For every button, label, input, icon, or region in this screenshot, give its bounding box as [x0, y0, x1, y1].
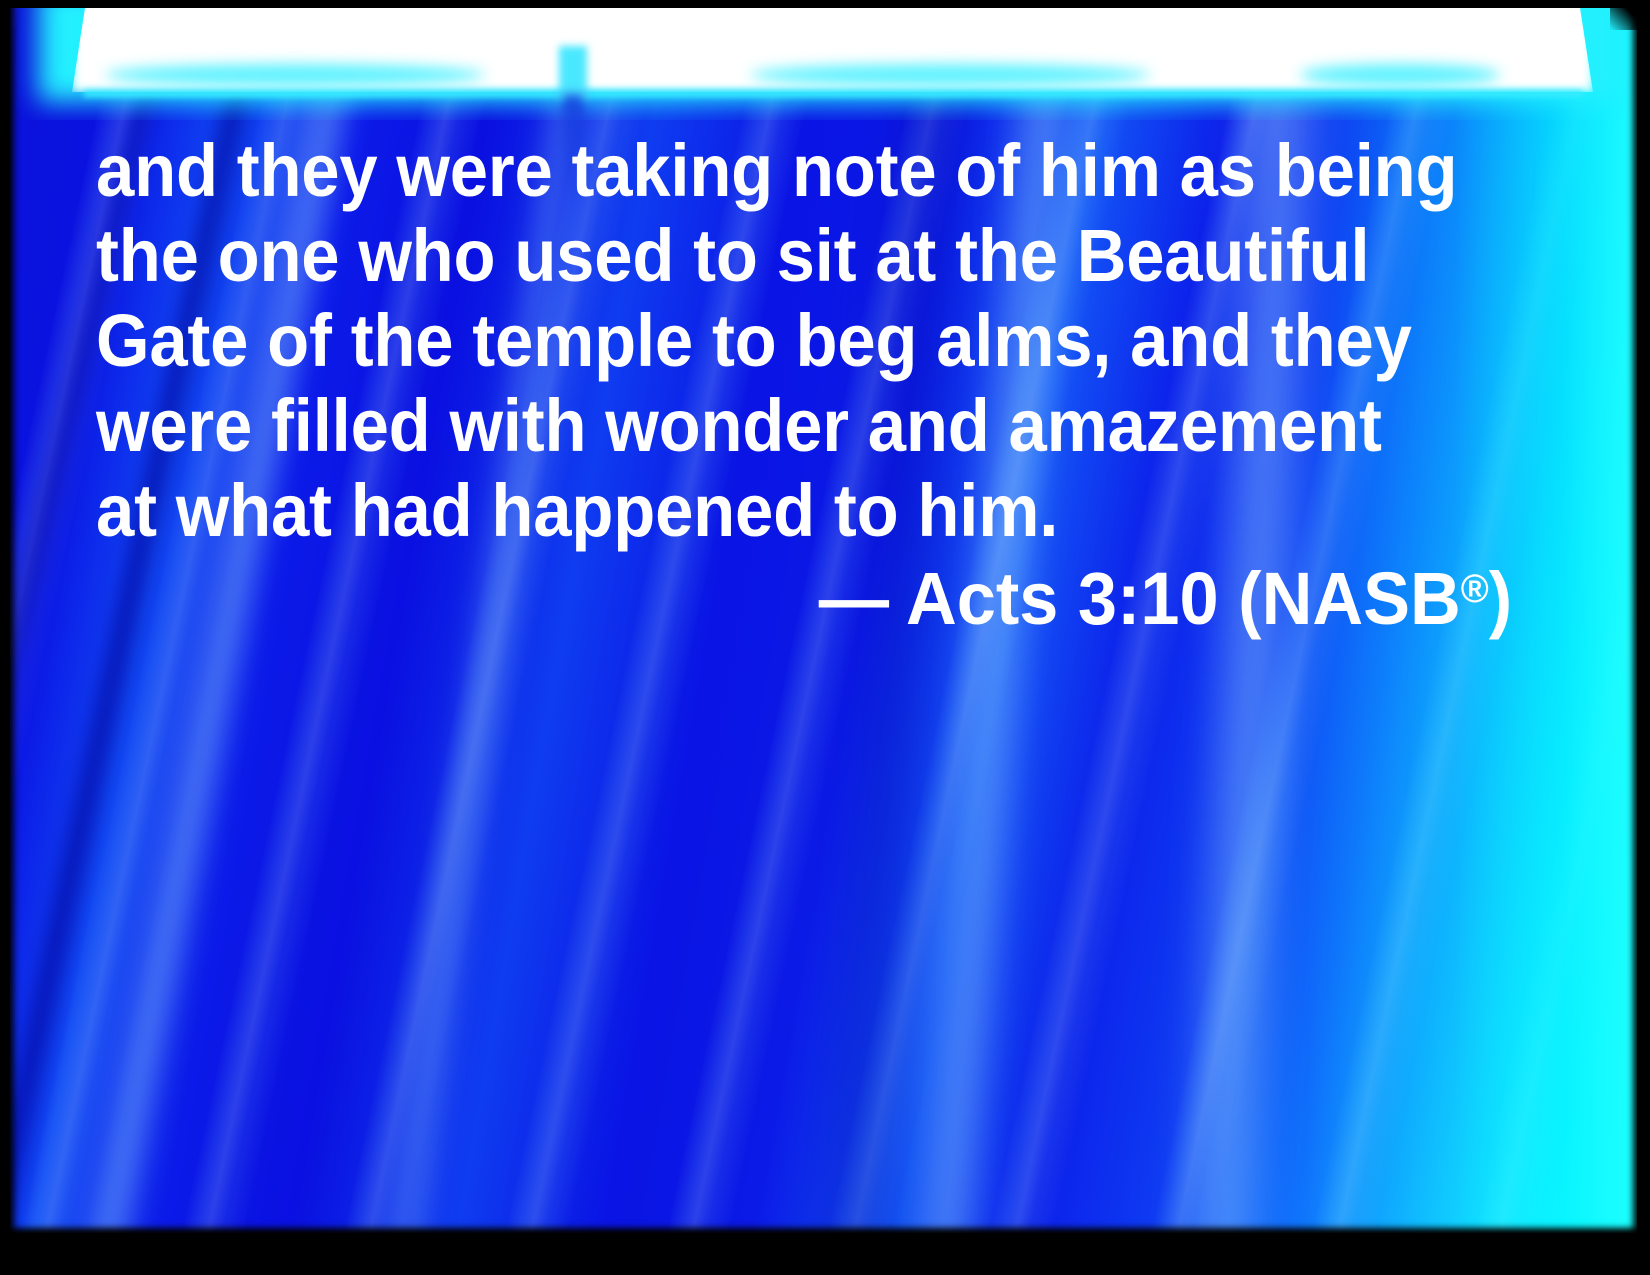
verse-reference-open-paren: (: [1238, 557, 1261, 640]
verse-line: Gate of the temple to beg alms, and they: [96, 298, 1417, 383]
verse-slide: and they were taking note of him as bein…: [0, 0, 1650, 1275]
verse-line: were filled with wonder and amazement: [96, 383, 1417, 468]
verse-text-block: and they were taking note of him as bein…: [96, 128, 1516, 645]
verse-reference: — Acts 3:10 (NASB®): [167, 553, 1516, 645]
verse-line: the one who used to sit at the Beautiful: [96, 213, 1417, 298]
verse-reference-citation: Acts 3:10: [906, 557, 1219, 640]
frame-border-bottom: [0, 1233, 1650, 1275]
top-banner-cyan-blob-1: [105, 64, 485, 86]
top-banner-underline: [84, 90, 1583, 97]
verse-line: at what had happened to him.: [96, 468, 1417, 553]
verse-reference-translation: NASB: [1262, 557, 1461, 640]
top-banner-notch: [559, 46, 587, 100]
verse-line: and they were taking note of him as bein…: [96, 128, 1417, 213]
top-banner-cyan-blob-2: [750, 64, 1150, 86]
frame-border-left: [0, 0, 10, 1275]
slide-background: and they were taking note of him as bein…: [10, 8, 1637, 1233]
top-banner: [10, 8, 1637, 120]
verse-reference-dash: —: [819, 557, 889, 640]
registered-trademark-icon: ®: [1461, 567, 1489, 611]
frame-border-right: [1637, 0, 1650, 1275]
frame-border-top: [0, 0, 1650, 8]
verse-reference-close-paren: ): [1489, 557, 1512, 640]
top-banner-cyan-blob-3: [1300, 64, 1500, 86]
